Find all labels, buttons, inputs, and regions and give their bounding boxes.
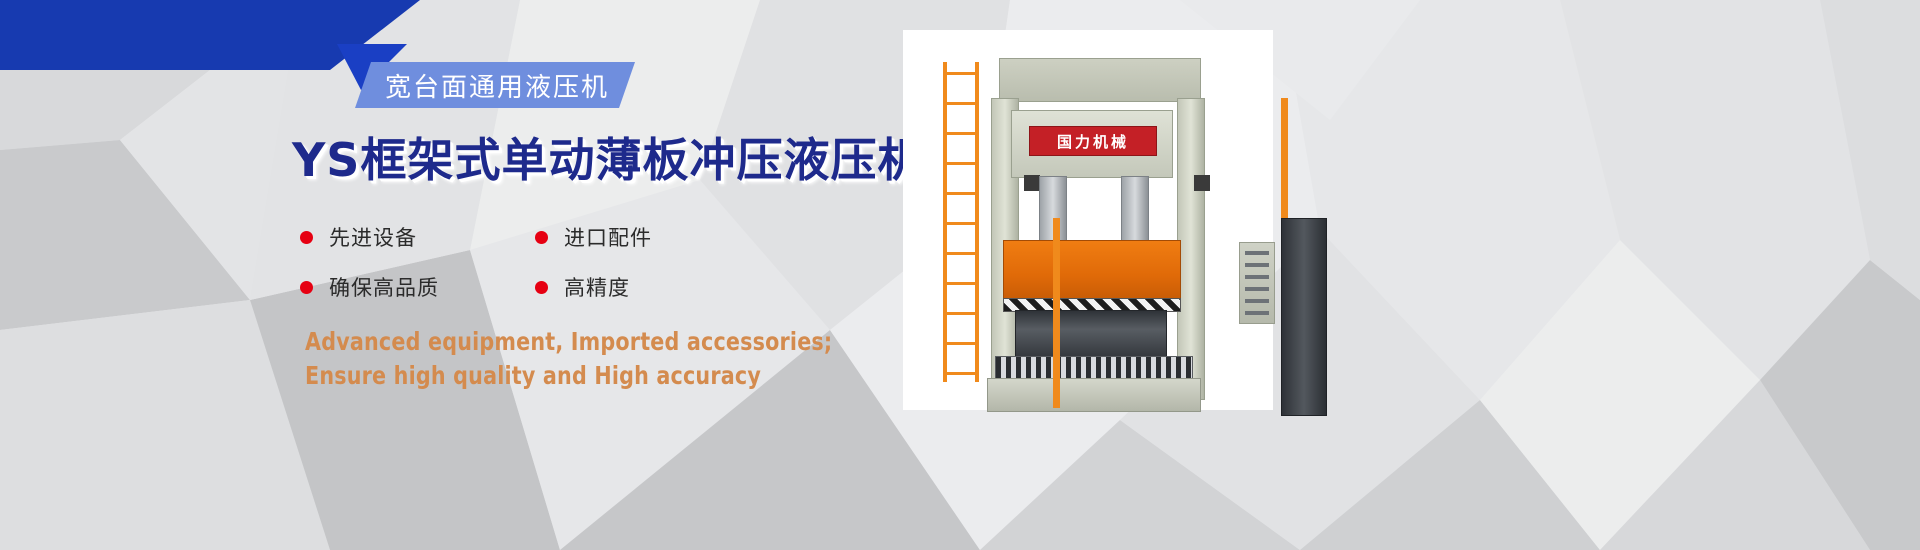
subtitle-text: 宽台面通用液压机 bbox=[385, 67, 609, 104]
press-base bbox=[987, 378, 1201, 412]
panel-box-right bbox=[1194, 175, 1210, 191]
tagline-line-2: Ensure high quality and High accuracy bbox=[305, 359, 832, 393]
press-slide-orange bbox=[1003, 240, 1181, 300]
feature-item: 确保高品质 bbox=[300, 272, 535, 302]
bullet-dot-icon bbox=[300, 231, 313, 244]
feature-item: 高精度 bbox=[535, 272, 770, 302]
feature-row: 确保高品质 高精度 bbox=[300, 272, 780, 302]
subtitle-bar: 宽台面通用液压机 bbox=[355, 62, 635, 108]
press-die-block bbox=[1015, 310, 1167, 358]
feature-item: 进口配件 bbox=[535, 222, 770, 252]
feature-list: 先进设备 进口配件 确保高品质 高精度 bbox=[300, 222, 780, 322]
product-photo: 国力机械 bbox=[903, 30, 1273, 410]
press-frame: 国力机械 bbox=[981, 58, 1221, 410]
feature-row: 先进设备 进口配件 bbox=[300, 222, 780, 252]
hydraulic-pipe-right bbox=[1281, 98, 1288, 218]
bullet-dot-icon bbox=[535, 231, 548, 244]
bullet-dot-icon bbox=[535, 281, 548, 294]
tagline-line-1: Advanced equipment, Imported accessories… bbox=[305, 325, 832, 359]
press-column-right bbox=[1177, 98, 1205, 400]
press-ram-right bbox=[1121, 176, 1149, 246]
press-bed bbox=[995, 356, 1193, 380]
safety-ladder-icon bbox=[943, 62, 979, 382]
hydraulic-press-illustration: 国力机械 bbox=[903, 30, 1273, 410]
brand-nameplate-text: 国力机械 bbox=[1057, 131, 1129, 152]
subtitle-block: 宽台面通用液压机 bbox=[355, 62, 635, 108]
promo-banner: 宽台面通用液压机 YS框架式单动薄板冲压液压机 先进设备 进口配件 确保高品质 … bbox=[0, 0, 1920, 550]
english-tagline: Advanced equipment, Imported accessories… bbox=[305, 325, 878, 393]
feature-label: 确保高品质 bbox=[329, 272, 439, 302]
product-title: YS框架式单动薄板冲压液压机 bbox=[292, 124, 924, 190]
press-crown bbox=[999, 58, 1201, 102]
hydraulic-pipe-left bbox=[1053, 218, 1060, 408]
electrical-cabinet bbox=[1281, 218, 1327, 416]
bullet-dot-icon bbox=[300, 281, 313, 294]
feature-label: 高精度 bbox=[564, 272, 630, 302]
panel-box-left bbox=[1024, 175, 1040, 191]
control-panel bbox=[1239, 242, 1275, 324]
feature-item: 先进设备 bbox=[300, 222, 535, 252]
brand-nameplate: 国力机械 bbox=[1029, 126, 1157, 156]
feature-label: 进口配件 bbox=[564, 222, 652, 252]
feature-label: 先进设备 bbox=[329, 222, 417, 252]
